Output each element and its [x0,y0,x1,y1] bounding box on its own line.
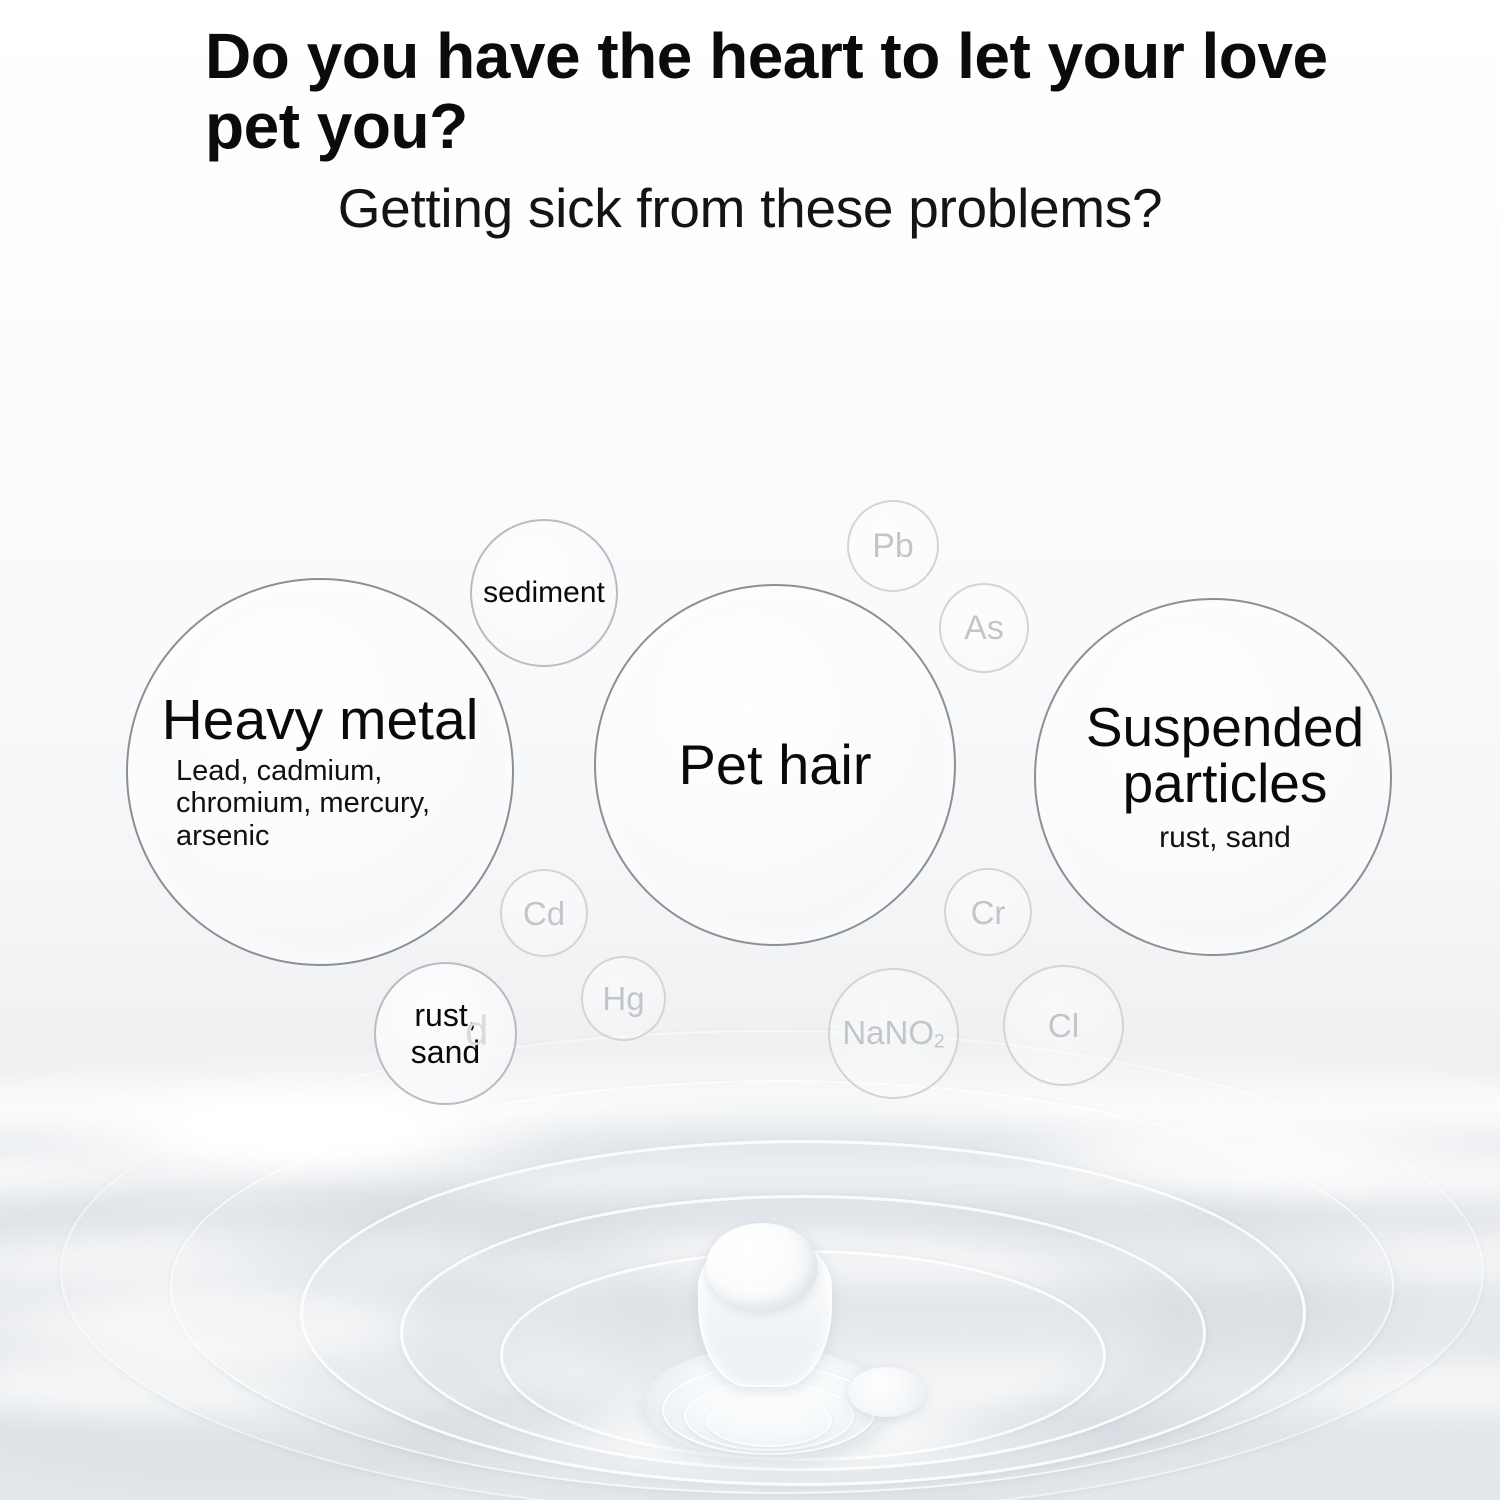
bubble-chromium-cr[interactable]: Cr [944,868,1032,956]
bubble-as-label: As [964,611,1004,645]
bubble-suspended-particles[interactable]: Suspended particles rust, sand [1034,598,1392,956]
poster-canvas: Do you have the heart to let your love p… [0,0,1500,1500]
bubble-heavy-metal-title: Heavy metal [162,692,479,749]
bubble-sodium-nitrite-nano2[interactable]: NaNO2 [828,968,959,1099]
bubble-mercury-hg[interactable]: Hg [581,956,666,1041]
bubble-sediment-label: sediment [483,578,605,608]
bubble-cr-label: Cr [971,896,1006,929]
bubble-heavy-metal[interactable]: Heavy metal Lead, cadmium, chromium, mer… [126,578,514,966]
bubble-hg-label: Hg [602,982,644,1015]
contaminant-bubble-group: Heavy metal Lead, cadmium, chromium, mer… [0,0,1500,1500]
bubble-arsenic-as[interactable]: As [939,583,1029,673]
bubble-pet-hair[interactable]: Pet hair [594,584,956,946]
bubble-pet-hair-title: Pet hair [679,737,872,793]
bubble-lead-pb[interactable]: Pb [847,500,939,592]
bubble-suspended-particles-title: Suspended particles [1025,699,1425,811]
bubble-heavy-metal-subtitle: Lead, cadmium, chromium, mercury, arseni… [176,755,476,852]
bubble-nano2-formula: NaNO [842,1014,934,1051]
bubble-chlorine-cl[interactable]: Cl [1003,965,1124,1086]
bubble-cd-label: Cd [523,897,565,930]
bubble-pb-label: Pb [872,529,914,563]
ghost-letter-artifact: d [465,1010,488,1052]
bubble-sediment[interactable]: sediment [470,519,618,667]
bubble-cadmium-cd[interactable]: Cd [500,869,588,957]
bubble-nano2-subscript: 2 [934,1031,945,1052]
bubble-rust-sand-label: rust, sand [376,997,515,1071]
bubble-rust-sand[interactable]: rust, sand [374,962,517,1105]
bubble-cl-label: Cl [1048,1009,1079,1042]
bubble-nano2-label: NaNO2 [842,1016,944,1052]
bubble-suspended-particles-subtitle: rust, sand [1159,821,1291,855]
